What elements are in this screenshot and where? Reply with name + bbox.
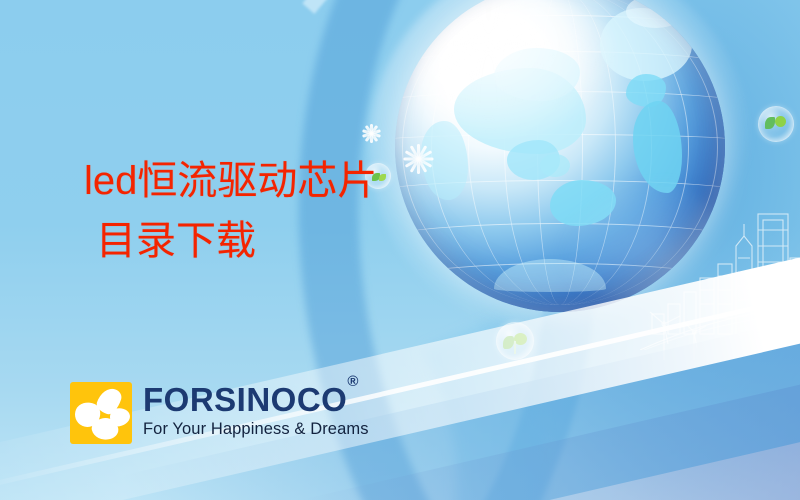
forsinoco-pinwheel-mark-icon — [70, 382, 132, 444]
registered-mark-icon: ® — [347, 373, 359, 390]
bubble-eco-center — [496, 322, 534, 360]
wind-turbine-icon — [644, 302, 714, 362]
brand-name: FORSINOCO® — [143, 383, 369, 416]
headline: led恒流驱动芯片 目录下载 — [84, 160, 377, 263]
led-driver-catalog-banner: led恒流驱动芯片 目录下载 FORSINOCO® For Your Happi… — [0, 0, 800, 500]
headline-line-2: 目录下载 — [96, 220, 377, 262]
headline-cjk: 恒流驱动芯片 — [137, 158, 377, 204]
green-sprout-leaf — [775, 116, 786, 127]
green-sprout-icon — [765, 117, 775, 129]
brand-word: FORSINOCO — [143, 381, 347, 418]
bubble-eco-right — [758, 106, 794, 142]
green-sprout-leaf — [379, 174, 386, 181]
brand-tagline: For Your Happiness & Dreams — [143, 420, 369, 439]
sparkle-daisy-small — [362, 124, 381, 143]
logo-text-block: FORSINOCO® For Your Happiness & Dreams — [143, 382, 369, 439]
sparkle-daisy-large — [403, 144, 433, 174]
sprout-stem — [514, 341, 516, 354]
headline-line-1: led恒流驱动芯片 — [84, 160, 377, 202]
forsinoco-logo[interactable]: FORSINOCO® For Your Happiness & Dreams — [70, 382, 369, 444]
headline-latin: led — [84, 159, 137, 203]
green-sprout-icon — [503, 336, 514, 349]
